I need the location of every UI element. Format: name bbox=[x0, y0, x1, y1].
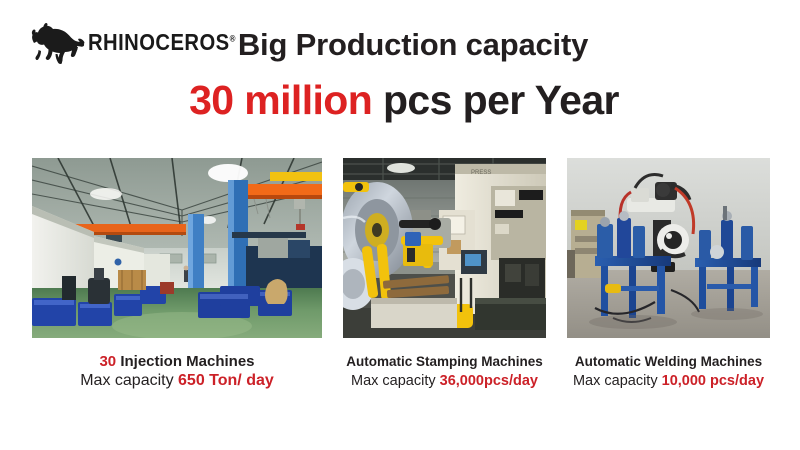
caption-stamping-title: Automatic Stamping Machines bbox=[343, 352, 546, 371]
svg-text:PRESS: PRESS bbox=[471, 170, 491, 176]
caption-welding-capacity-value: 10,000 pcs/day bbox=[662, 373, 764, 389]
caption-injection-capacity: Max capacity 650 Ton/ day bbox=[32, 371, 322, 391]
caption-stamping-capacity-value: 36,000pcs/day bbox=[440, 373, 538, 389]
caption-welding-capacity-label: Max capacity bbox=[573, 373, 662, 389]
caption-injection-title-text: Injection Machines bbox=[116, 353, 254, 370]
caption-welding-title-text: Automatic Welding Machines bbox=[575, 354, 762, 369]
card-stamping: PRESS bbox=[343, 158, 546, 338]
caption-stamping-title-text: Automatic Stamping Machines bbox=[346, 354, 543, 369]
caption-welding: Automatic Welding Machines Max capacity … bbox=[567, 352, 770, 400]
caption-welding-capacity: Max capacity 10,000 pcs/day bbox=[567, 371, 770, 391]
caption-stamping-capacity-label: Max capacity bbox=[351, 373, 440, 389]
capacity-highlight: 30 million bbox=[189, 77, 372, 123]
caption-injection-title: 30 Injection Machines bbox=[32, 352, 322, 371]
page-subtitle: 30 million pcs per Year bbox=[0, 80, 800, 121]
caption-welding-title: Automatic Welding Machines bbox=[567, 352, 770, 371]
caption-injection-capacity-label: Max capacity bbox=[80, 372, 178, 389]
caption-injection: 30 Injection Machines Max capacity 650 T… bbox=[32, 352, 322, 400]
caption-injection-count: 30 bbox=[99, 353, 116, 370]
injection-molding-workshop-photo bbox=[32, 158, 322, 338]
capacity-unit: pcs per Year bbox=[372, 77, 619, 123]
caption-stamping: Automatic Stamping Machines Max capacity… bbox=[343, 352, 546, 400]
page-title-text: Big Production capacity bbox=[238, 27, 588, 62]
automatic-stamping-press-photo: PRESS bbox=[343, 158, 546, 338]
caption-row: 30 Injection Machines Max capacity 650 T… bbox=[32, 352, 770, 400]
card-welding bbox=[567, 158, 770, 338]
card-injection bbox=[32, 158, 322, 338]
caption-stamping-capacity: Max capacity 36,000pcs/day bbox=[343, 371, 546, 391]
photo-gallery: PRESS bbox=[32, 158, 770, 338]
automatic-welding-robot-photo bbox=[567, 158, 770, 338]
caption-injection-capacity-value: 650 Ton/ day bbox=[178, 372, 274, 389]
slide-root: RHINOCEROS® Big Production capacity 30 m… bbox=[0, 0, 800, 450]
page-title: Big Production capacity bbox=[0, 29, 800, 60]
